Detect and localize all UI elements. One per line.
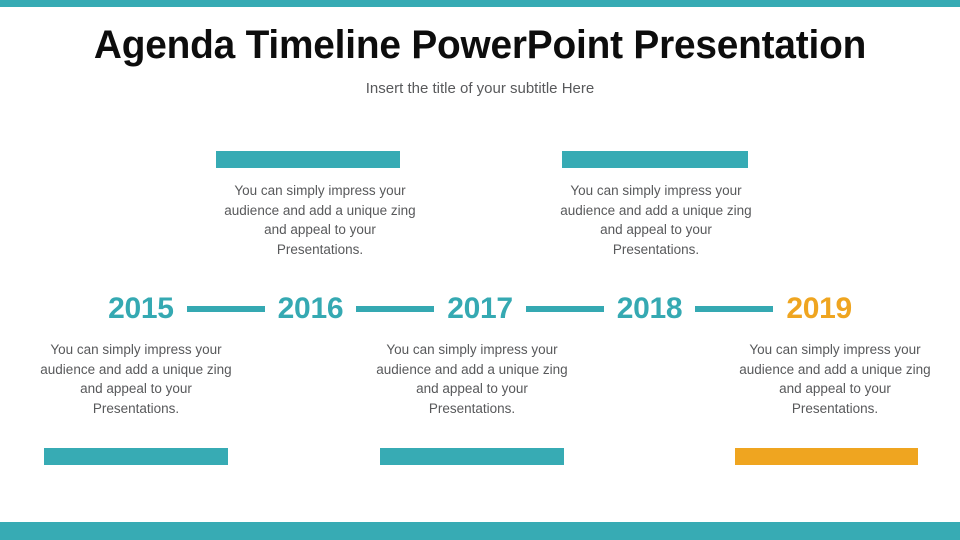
page-title: Agenda Timeline PowerPoint Presentation: [14, 22, 945, 68]
timeline-year-2016[interactable]: 2016: [278, 288, 344, 330]
timeline-connector-2: [356, 306, 434, 312]
timeline-connector-1: [187, 306, 265, 312]
timeline-year-2017[interactable]: 2017: [447, 288, 513, 330]
callout-bar-bottom-2019: [735, 448, 918, 465]
callout-bar-bottom-2015: [44, 448, 228, 465]
callout-text-bottom-2019: You can simply impress your audience and…: [735, 340, 935, 418]
callout-text-bottom-2017: You can simply impress your audience and…: [372, 340, 572, 418]
timeline-year-2019[interactable]: 2019: [786, 288, 852, 330]
callout-bar-top-2018: [562, 151, 748, 168]
timeline-connector-3: [526, 306, 604, 312]
top-accent-strip: [0, 0, 960, 7]
slide-canvas: Agenda Timeline PowerPoint Presentation …: [0, 0, 960, 540]
callout-bar-top-2016: [216, 151, 400, 168]
bottom-accent-strip: [0, 522, 960, 540]
callout-text-bottom-2015: You can simply impress your audience and…: [36, 340, 236, 418]
callout-text-top-2018: You can simply impress your audience and…: [556, 181, 756, 259]
timeline-year-2015[interactable]: 2015: [108, 288, 174, 330]
callout-text-top-2016: You can simply impress your audience and…: [220, 181, 420, 259]
page-subtitle: Insert the title of your subtitle Here: [0, 79, 960, 99]
callout-bar-bottom-2017: [380, 448, 564, 465]
timeline-axis: 2015 2016 2017 2018 2019: [0, 288, 960, 330]
timeline-connector-4: [695, 306, 773, 312]
timeline-year-2018[interactable]: 2018: [617, 288, 683, 330]
